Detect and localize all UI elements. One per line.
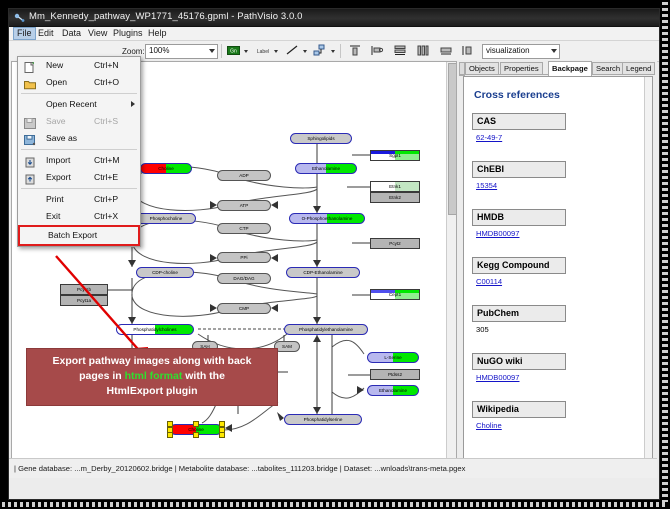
visualization-combo[interactable]: visualization [482,44,560,59]
menu-item-save-as[interactable]: Save as [18,130,140,147]
visualization-value: visualization [486,46,530,55]
metabolite-node-ethanolamine-top[interactable]: Ethanolamine [295,163,357,174]
interaction-tool-button[interactable] [313,44,327,58]
node-label: L-Serine [384,355,401,360]
line-dropdown-icon[interactable] [303,50,307,53]
menu-item-label: Open [46,77,67,87]
node-label: Ethanolamine [379,388,407,393]
node-label: DAG/DAG [233,276,254,281]
menu-separator [21,149,137,150]
gene-node-etnk2[interactable]: Etnk2 [370,192,420,203]
xref-header-label: Wikipedia [477,404,519,414]
same-height-button[interactable] [461,44,475,58]
menu-item-accelerator: Ctrl+S [94,116,118,126]
svg-text:Gn: Gn [230,49,237,55]
metabolite-node-ctp[interactable]: CTP [217,223,271,234]
xref-value-kegg-compound[interactable]: C00114 [476,277,502,286]
label-dropdown-icon[interactable] [274,50,278,53]
metabolite-node-choline-top[interactable]: Choline [140,163,192,174]
xref-header-label: CAS [477,116,496,126]
node-label: CDP-Ethanolamine [303,270,342,275]
node-label: Choline [158,166,174,171]
metabolite-node-sphingolipids[interactable]: Sphingolipids [290,133,352,144]
menu-item-save: SaveCtrl+S [18,113,140,130]
node-label: SAM [282,344,292,349]
menu-item-label: Print [46,194,64,204]
menu-item-label: Open Recent [46,99,97,109]
metabolite-node-adp[interactable]: ADP [217,170,271,181]
chevron-down-icon [209,49,215,53]
datanode-tool-button[interactable]: Gn [227,44,240,58]
menu-item-print[interactable]: PrintCtrl+P [18,191,140,208]
side-panel: Objects Properties Backpage Search Legen… [459,61,655,475]
zoom-label: Zoom: [122,47,145,56]
xref-header-label: HMDB [477,212,504,222]
node-label: ADP [239,173,248,178]
metabolite-node-l-serine[interactable]: L-Serine [367,352,419,363]
menu-item-label: Batch Export [48,230,97,240]
menu-item-label: Exit [46,211,60,221]
menu-item-open-recent[interactable]: Open Recent [18,96,140,113]
zoom-value: 100% [149,46,169,55]
save-as-icon [24,133,36,144]
menu-item-accelerator: Ctrl+X [94,211,118,221]
node-label: O-Phosphoethanolamine [302,216,353,221]
xref-value-nugo-wiki[interactable]: HMDB00097 [476,373,519,382]
menu-item-accelerator: Ctrl+M [94,155,120,165]
status-text: | Gene database: ...m_Derby_20120602.bri… [14,464,465,473]
import-icon [24,155,36,166]
backpage-content: Cross references CAS62-49-7ChEBI15354HMD… [463,76,653,474]
menu-file[interactable]: File [13,27,36,40]
xref-header-cas: CAS [472,113,566,130]
toolbar-separator-2 [340,44,341,58]
menu-item-label: Import [46,155,70,165]
same-width-button[interactable] [439,44,453,58]
title-bar: Mm_Kennedy_pathway_WP1771_45176.gpml - P… [9,9,659,27]
xref-header-chebi: ChEBI [472,161,566,178]
application-window: Mm_Kennedy_pathway_WP1771_45176.gpml - P… [8,8,660,500]
xref-header-label: PubChem [477,308,519,318]
frame-right-rim [662,2,668,507]
zoom-combo[interactable]: 100% [145,44,218,59]
xref-header-pubchem: PubChem [472,305,566,322]
annotation-line-2a: pages in [79,370,125,382]
menu-edit[interactable]: Edit [35,28,57,39]
xref-header-wikipedia: Wikipedia [472,401,566,418]
pathvisio-icon [14,12,25,23]
metabolite-node-ethanolamine-low[interactable]: Ethanolamine [367,385,419,396]
file-menu-popup[interactable]: NewCtrl+NOpenCtrl+OOpen RecentSaveCtrl+S… [17,56,141,247]
metabolite-node-cmp[interactable]: CMP [217,303,271,314]
node-label: Pcyt2 [389,241,401,246]
menu-item-export[interactable]: ExportCtrl+E [18,169,140,186]
resize-handle[interactable] [167,432,173,438]
label-tool-button[interactable]: Label [255,44,271,58]
metabolite-node-atp[interactable]: ATP [217,200,271,211]
annotation-highlight: html format [125,370,183,382]
xref-header-label: Kegg Compound [477,260,550,270]
menu-item-accelerator: Ctrl+P [94,194,118,204]
frame-bottom-rim [2,502,668,507]
status-bar: | Gene database: ...m_Derby_20120602.bri… [9,458,657,478]
metabolite-node-dag-dag[interactable]: DAG/DAG [217,273,271,284]
metabolite-node-phosphatidylethanolamine[interactable]: Phosphatidylethanolamine [284,324,368,335]
metabolite-node-cdp-ethanolamine[interactable]: CDP-Ethanolamine [286,267,360,278]
open-folder-icon [24,77,36,88]
node-label: CMP [239,306,249,311]
gene-node-pcyt2[interactable]: Pcyt2 [370,238,420,249]
menu-item-accelerator: Ctrl+O [94,77,119,87]
stack-vertical-button[interactable] [393,44,407,58]
annotation-line-2b: with the [182,370,225,382]
xref-value-wikipedia[interactable]: Choline [476,421,502,430]
annotation-line-2: pages in html format with the [31,369,273,384]
xref-header-nugo-wiki: NuGO wiki [472,353,566,370]
chevron-right-icon [131,101,135,107]
metabolite-node-o-phosphoethanolamine[interactable]: O-Phosphoethanolamine [289,213,365,224]
gene-node-sgpl1[interactable]: Sgpl1 [370,150,420,161]
menu-view[interactable]: View [85,28,110,39]
screenshot-root: Mm_Kennedy_pathway_WP1771_45176.gpml - P… [0,0,670,509]
interaction-dropdown-icon[interactable] [331,50,335,53]
stack-horizontal-button[interactable] [416,44,430,58]
menu-item-batch-export[interactable]: Batch Export [18,225,140,246]
xref-header-label: NuGO wiki [477,356,523,366]
menu-bar: File Edit Data View Plugins Help [9,27,659,41]
node-label: Phosphatidylethanolamine [299,327,353,332]
svg-text:Label: Label [257,49,269,55]
gene-node-ptdss2[interactable]: Ptdss2 [370,369,420,380]
resize-handle[interactable] [193,432,199,438]
menu-separator [21,188,137,189]
node-label: Sphingolipids [307,136,334,141]
menu-plugins[interactable]: Plugins [110,28,146,39]
canvas-vertical-scrollbar[interactable] [446,62,456,476]
metabolite-node-ppi[interactable]: PPi [217,252,271,263]
datanode-dropdown-icon[interactable] [244,50,248,53]
resize-handle[interactable] [193,421,199,427]
resize-handle[interactable] [219,432,225,438]
node-label: ATP [240,203,249,208]
xref-value-cas[interactable]: 62-49-7 [476,133,502,142]
annotation-callout: Export pathway images along with back pa… [26,348,278,406]
toolbar-separator [221,44,222,58]
metabolite-node-phosphatidylserine[interactable]: Phosphatidylserine [284,414,362,425]
menu-item-label: Export [46,172,71,182]
node-label: PPi [240,255,247,260]
menu-item-label: New [46,60,63,70]
node-label: Ptdss2 [388,372,402,377]
node-label: Phosphocholine [150,216,183,221]
xref-header-hmdb: HMDB [472,209,566,226]
node-label: Phosphatidylserine [304,417,343,422]
node-label: Etnk2 [389,195,401,200]
side-panel-tabs: Objects Properties Backpage Search Legen… [459,61,655,75]
menu-data[interactable]: Data [59,28,84,39]
node-label: CTP [239,226,248,231]
menu-item-import[interactable]: ImportCtrl+M [18,152,140,169]
save-icon [24,116,36,127]
menu-item-open[interactable]: OpenCtrl+O [18,74,140,91]
xref-value-hmdb[interactable]: HMDB00097 [476,229,519,238]
menu-help[interactable]: Help [145,28,170,39]
menu-item-accelerator: Ctrl+N [94,60,119,70]
annotation-line-1: Export pathway images along with back [31,354,273,369]
window-title: Mm_Kennedy_pathway_WP1771_45176.gpml - P… [29,11,303,22]
cross-references-title: Cross references [474,89,560,101]
align-top-button[interactable] [348,44,362,58]
line-tool-button[interactable] [285,44,299,58]
align-left-button[interactable] [370,44,384,58]
menu-item-accelerator: Ctrl+E [94,172,118,182]
backpage-scrollbar[interactable] [644,77,652,471]
menu-item-exit[interactable]: ExitCtrl+X [18,208,140,225]
node-label: Etnk1 [389,184,401,189]
tab-backpage[interactable]: Backpage [548,61,592,76]
metabolite-node-phosphocholine[interactable]: Phosphocholine [136,213,196,224]
xref-header-label: ChEBI [477,164,504,174]
expression-bar [371,151,419,154]
canvas-vscroll-thumb[interactable] [448,63,457,215]
menu-item-new[interactable]: NewCtrl+N [18,57,140,74]
expression-bar [371,290,419,293]
annotation-line-3: HtmlExport plugin [31,384,273,399]
gene-node-cept1[interactable]: Cept1 [370,289,420,300]
menu-item-label: Save [46,116,66,126]
node-label: Ethanolamine [312,166,340,171]
menu-item-label: Save as [46,133,77,143]
xref-header-kegg-compound: Kegg Compound [472,257,566,274]
new-file-icon [24,60,36,71]
chevron-down-icon-2 [551,49,557,53]
xref-value-pubchem: 305 [476,325,489,334]
menu-separator [21,93,137,94]
export-icon [24,172,36,183]
gene-node-etnk1[interactable]: Etnk1 [370,181,420,192]
xref-value-chebi[interactable]: 15354 [476,181,497,190]
